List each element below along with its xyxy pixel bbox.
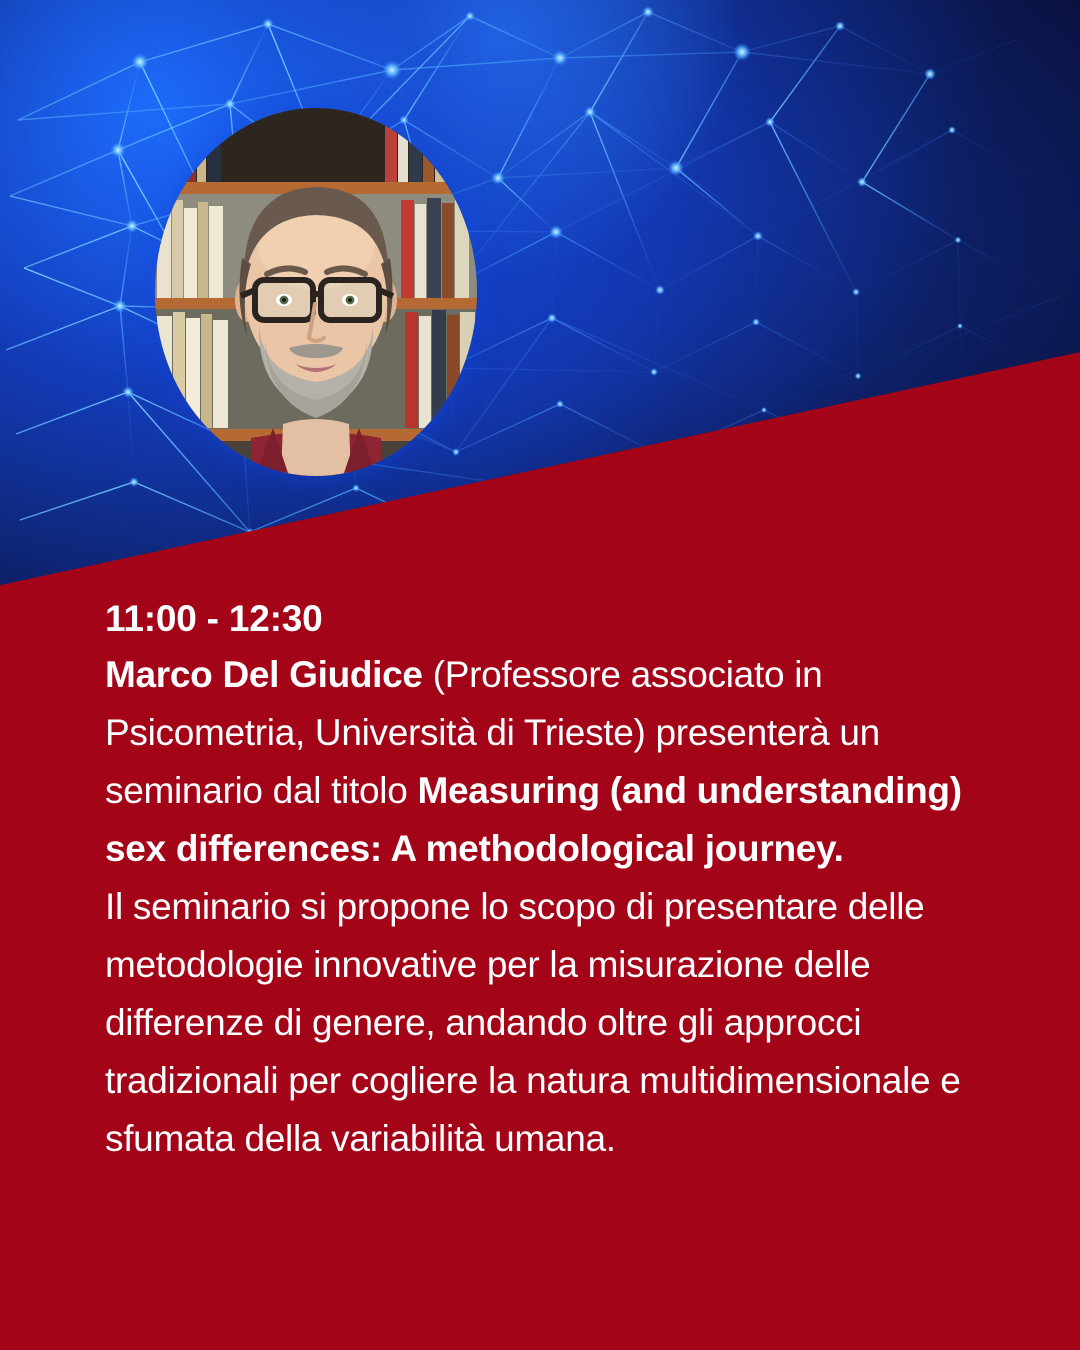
session-abstract: Il seminario si propone lo scopo di pres… [105,878,1000,1168]
session-description: Marco Del Giudice (Professore associato … [105,646,1000,878]
session-time: 11:00 - 12:30 [105,592,1005,646]
event-poster: 11:00 - 12:30 Marco Del Giudice (Profess… [0,0,1080,1350]
hero-network-panel [0,0,1080,600]
title-period: . [834,828,844,869]
speaker-name: Marco Del Giudice [105,654,423,695]
avatar [155,108,477,476]
speaker-portrait-image [155,108,477,476]
session-details: 11:00 - 12:30 Marco Del Giudice (Profess… [105,592,1005,1168]
